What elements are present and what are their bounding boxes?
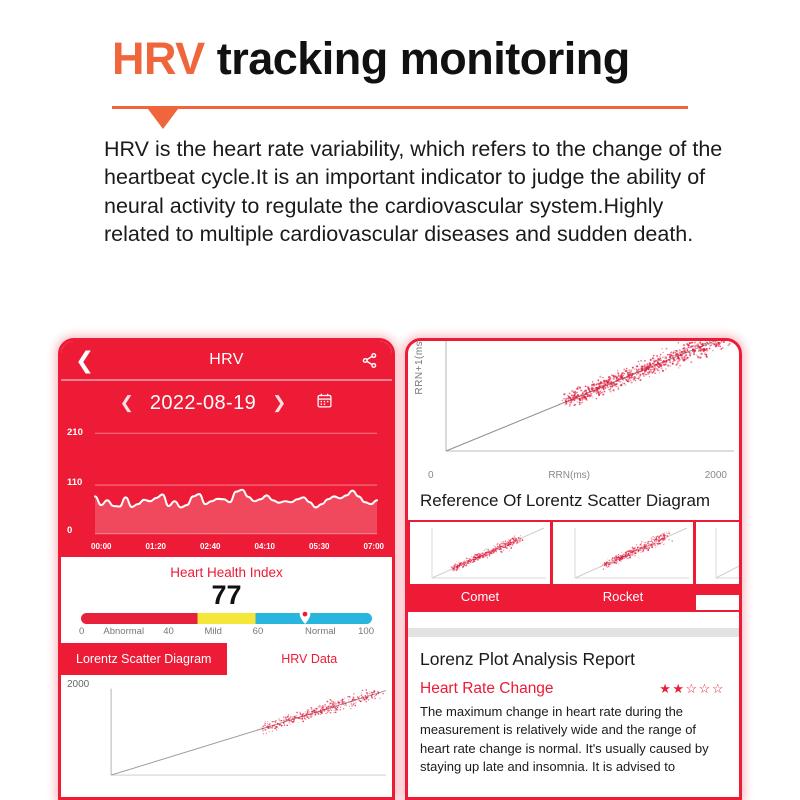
content-gap [408,612,739,628]
x-tick-5: 07:00 [364,542,384,551]
x-tick-1: 01:20 [146,542,166,551]
date-selector: ❮ 2022-08-19 ❯ [61,381,392,425]
scatter-y-top-label: 2000 [67,679,89,690]
report-subsection-row: Heart Rate Change ★★☆☆☆ [408,672,739,700]
x-tick-2: 02:40 [200,542,220,551]
x-tick-3: 04:10 [255,542,275,551]
health-index-scale: 0 Abnormal 40 Mild 60 Normal 100 [61,624,392,637]
navbar-title: HRV [101,351,352,369]
plot-x-label: RRN(ms) [548,470,590,481]
prev-day-button[interactable]: ❮ [120,393,134,413]
title-divider [0,106,800,109]
plot-y-label: RRN+1(ms) [414,338,425,395]
scatter-preview-svg [67,681,388,777]
scale-mild: Mild [180,626,246,637]
health-index-title: Heart Health Index [61,565,392,580]
left-phone-header: ❮ HRV ❮ 2022-08-19 ❯ [61,341,392,557]
selected-date[interactable]: 2022-08-19 [150,392,256,415]
y-tick-0: 0 [67,525,72,536]
section-separator [408,628,739,637]
report-title: Lorenz Plot Analysis Report [408,637,739,672]
x-tick-0: 00:00 [91,542,111,551]
page-title: HRV tracking monitoring [0,34,800,84]
reference-card-list: Comet Rocket [408,520,739,612]
next-day-button[interactable]: ❯ [272,393,286,413]
y-tick-210: 210 [67,427,83,438]
scale-60: 60 [246,626,270,637]
tab-hrv-data[interactable]: HRV Data [227,643,393,675]
triangle-down-icon [148,109,178,129]
health-index-value: 77 [61,581,392,609]
hrv-x-axis: 00:00 01:20 02:40 04:10 05:30 07:00 [61,541,392,557]
tab-lorentz-scatter-diagram[interactable]: Lorentz Scatter Diagram [61,643,227,675]
report-body-text: The maximum change in heart rate during … [408,700,739,777]
card-label-rocket: Rocket [553,584,693,610]
plot-x-max: 2000 [705,470,727,481]
scale-40: 40 [157,626,181,637]
intro-paragraph: HRV is the heart rate variability, which… [0,109,800,249]
hrv-line-chart: 210 110 0 [61,425,392,541]
heart-health-index-card: Heart Health Index 77 0 Abnormal 40 Mild [61,557,392,643]
reference-card-partial[interactable] [696,522,742,610]
page-title-accent: HRV [112,33,205,84]
plot-x-axis: 0 RRN(ms) 2000 [408,469,739,481]
partial-thumbnail [696,522,742,584]
page-header: HRV tracking monitoring HRV is the heart… [0,0,800,249]
right-phone-screenshot: RRN+1(ms) 0 RRN(ms) 2000 Reference Of Lo… [405,338,742,800]
card-label-partial [696,584,742,595]
divider-line [112,106,688,109]
phone-mockups: ❮ HRV ❮ 2022-08-19 ❯ [0,338,800,800]
scale-0: 0 [79,626,91,637]
scale-abnormal: Abnormal [91,626,157,637]
plot-x-min: 0 [428,470,434,481]
scale-normal: Normal [270,626,336,637]
lorentz-scatter-preview: 2000 [61,675,392,777]
page-title-rest: tracking monitoring [205,33,630,84]
health-index-marker-pin [300,609,311,624]
reference-card-comet[interactable]: Comet [410,522,550,610]
x-tick-4: 05:30 [309,542,329,551]
health-index-bar-wrap [61,609,392,624]
reference-card-rocket[interactable]: Rocket [553,522,693,610]
lorentz-plot-svg [408,341,739,469]
star-rating: ★★☆☆☆ [659,681,725,697]
report-subtitle: Heart Rate Change [420,680,554,698]
calendar-icon[interactable] [316,392,333,414]
back-icon[interactable]: ❮ [75,349,101,372]
card-label-comet: Comet [410,584,550,610]
tab-bar: Lorentz Scatter Diagram HRV Data [61,643,392,675]
navbar: ❮ HRV [61,341,392,379]
y-tick-110: 110 [67,477,82,488]
comet-thumbnail [410,522,550,584]
reference-section-title: Reference Of Lorentz Scatter Diagram [408,481,739,520]
share-icon[interactable] [352,352,378,369]
rocket-thumbnail [553,522,693,584]
health-index-bar[interactable] [81,613,372,624]
scale-100: 100 [336,626,374,637]
hrv-chart-svg [95,425,382,541]
lorentz-scatter-plot: RRN+1(ms) [408,341,739,469]
left-phone-screenshot: ❮ HRV ❮ 2022-08-19 ❯ [58,338,395,800]
